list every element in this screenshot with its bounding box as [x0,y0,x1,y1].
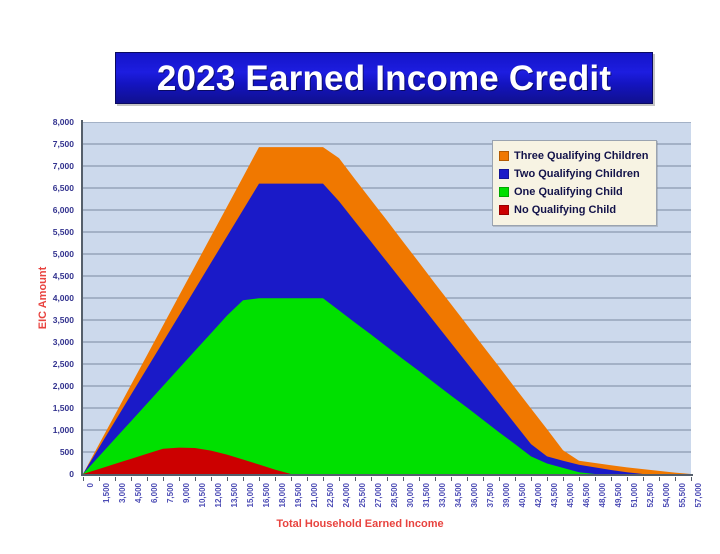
x-tick-mark [275,477,276,481]
y-tick-label: 7,000 [53,161,74,171]
y-tick-label: 1,500 [53,403,74,413]
chart-legend: Three Qualifying ChildrenTwo Qualifying … [492,140,657,226]
x-tick-mark [547,477,548,481]
x-tick-mark [259,477,260,481]
x-tick-label: 28,500 [390,483,399,507]
x-tick-label: 39,000 [502,483,511,507]
x-tick-mark [515,477,516,481]
y-tick-label: 8,000 [53,117,74,127]
x-tick-mark [675,477,676,481]
chart-title-box: 2023 Earned Income Credit [115,52,653,104]
y-tick-label: 500 [60,447,74,457]
x-tick-label: 46,500 [582,483,591,507]
y-tick-label: 3,000 [53,337,74,347]
legend-swatch-icon [499,205,509,215]
x-tick-label: 0 [86,483,95,487]
legend-swatch-icon [499,187,509,197]
x-tick-label: 9,000 [182,483,191,503]
x-tick-mark [179,477,180,481]
x-tick-mark [211,477,212,481]
x-tick-mark [371,477,372,481]
legend-item-label: Three Qualifying Children [514,150,648,162]
x-tick-label: 1,500 [102,483,111,503]
x-tick-mark [323,477,324,481]
x-tick-label: 27,000 [374,483,383,507]
legend-item-label: No Qualifying Child [514,204,616,216]
x-tick-mark [307,477,308,481]
legend-item[interactable]: Three Qualifying Children [499,147,648,165]
x-tick-mark [595,477,596,481]
x-tick-label: 49,500 [614,483,623,507]
x-tick-label: 25,500 [358,483,367,507]
legend-item[interactable]: One Qualifying Child [499,183,648,201]
x-tick-label: 15,000 [246,483,255,507]
y-tick-label: 1,000 [53,425,74,435]
y-tick-label: 2,500 [53,359,74,369]
x-tick-label: 3,000 [118,483,127,503]
x-tick-mark [163,477,164,481]
x-tick-mark [291,477,292,481]
x-tick-label: 31,500 [422,483,431,507]
x-tick-mark [83,477,84,481]
x-tick-label: 34,500 [454,483,463,507]
x-tick-label: 37,500 [486,483,495,507]
x-tick-label: 13,500 [230,483,239,507]
x-tick-label: 42,000 [534,483,543,507]
x-tick-label: 40,500 [518,483,527,507]
x-tick-mark [243,477,244,481]
y-tick-label: 0 [69,469,74,479]
y-axis-labels: 05001,0001,5002,0002,5003,0003,5004,0004… [26,114,78,480]
x-tick-label: 54,000 [662,483,671,507]
x-tick-mark [195,477,196,481]
x-tick-label: 45,000 [566,483,575,507]
x-tick-label: 4,500 [134,483,143,503]
y-tick-label: 7,500 [53,139,74,149]
x-tick-label: 57,000 [694,483,703,507]
x-tick-mark [659,477,660,481]
y-tick-label: 5,000 [53,249,74,259]
x-tick-mark [403,477,404,481]
legend-item[interactable]: No Qualifying Child [499,201,648,219]
x-tick-label: 6,000 [150,483,159,503]
x-tick-label: 19,500 [294,483,303,507]
x-tick-mark [435,477,436,481]
x-tick-label: 36,000 [470,483,479,507]
legend-item[interactable]: Two Qualifying Children [499,165,648,183]
x-tick-label: 22,500 [326,483,335,507]
y-tick-label: 4,500 [53,271,74,281]
x-tick-label: 21,000 [310,483,319,507]
x-tick-mark [419,477,420,481]
x-axis-labels: 01,5003,0004,5006,0007,5009,00010,50012,… [83,477,693,517]
legend-item-label: Two Qualifying Children [514,168,640,180]
y-tick-label: 6,000 [53,205,74,215]
legend-swatch-icon [499,151,509,161]
chart-title-banner: 2023 Earned Income Credit [115,52,653,104]
y-tick-label: 3,500 [53,315,74,325]
x-tick-label: 10,500 [198,483,207,507]
x-tick-label: 30,000 [406,483,415,507]
x-tick-mark [115,477,116,481]
x-tick-label: 16,500 [262,483,271,507]
x-tick-mark [227,477,228,481]
x-tick-mark [499,477,500,481]
page-title: 2023 Earned Income Credit [157,61,611,96]
x-tick-label: 55,500 [678,483,687,507]
x-tick-label: 51,000 [630,483,639,507]
x-tick-mark [531,477,532,481]
x-tick-mark [451,477,452,481]
x-tick-mark [131,477,132,481]
y-axis-line [81,120,83,476]
x-tick-mark [563,477,564,481]
x-tick-mark [387,477,388,481]
y-tick-label: 4,000 [53,293,74,303]
x-tick-mark [627,477,628,481]
x-tick-mark [643,477,644,481]
x-tick-mark [579,477,580,481]
x-tick-label: 7,500 [166,483,175,503]
x-tick-mark [355,477,356,481]
x-tick-mark [483,477,484,481]
x-tick-mark [467,477,468,481]
x-tick-label: 33,000 [438,483,447,507]
legend-item-label: One Qualifying Child [514,186,623,198]
x-tick-mark [339,477,340,481]
x-axis-title: Total Household Earned Income [0,518,720,530]
y-tick-label: 6,500 [53,183,74,193]
x-tick-mark [691,477,692,481]
x-axis-line [81,474,693,476]
x-tick-label: 43,500 [550,483,559,507]
x-tick-mark [611,477,612,481]
x-tick-label: 18,000 [278,483,287,507]
x-tick-label: 24,000 [342,483,351,507]
x-tick-label: 48,000 [598,483,607,507]
x-tick-mark [99,477,100,481]
y-tick-label: 5,500 [53,227,74,237]
x-tick-mark [147,477,148,481]
eic-chart: 2023 Earned Income Credit EIC Amount 050… [0,0,720,554]
x-tick-label: 52,500 [646,483,655,507]
x-tick-label: 12,000 [214,483,223,507]
legend-swatch-icon [499,169,509,179]
y-tick-label: 2,000 [53,381,74,391]
